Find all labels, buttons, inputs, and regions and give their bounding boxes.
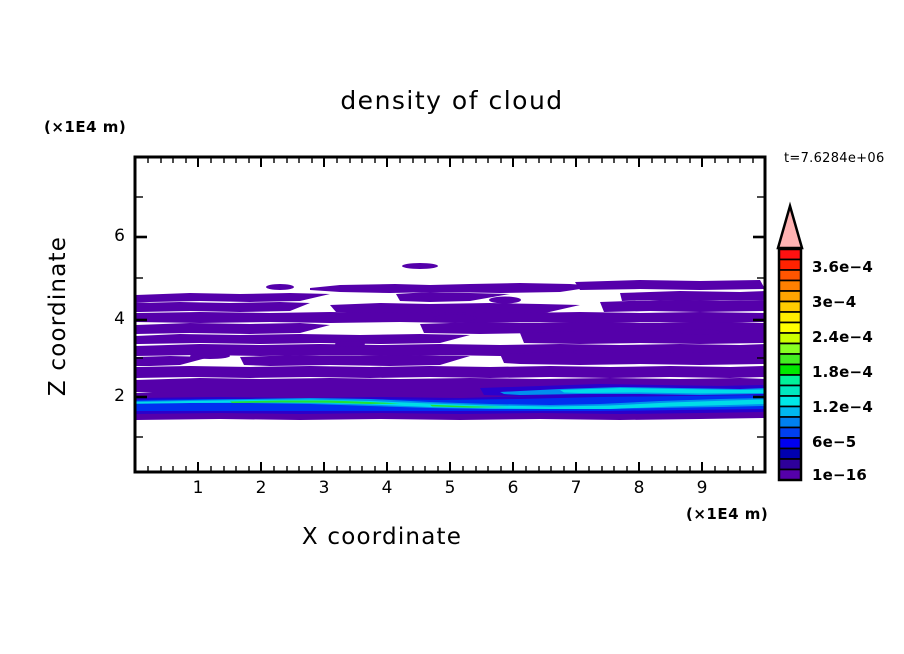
colorbar-tick-label: 1.8e−4	[812, 363, 873, 381]
colorbar-tick-label: 1.2e−4	[812, 398, 873, 416]
figure-canvas: density of cloud (×1E4 m) (×1E4 m) t=7.6…	[0, 0, 904, 654]
colorbar-bands	[779, 249, 801, 480]
colorbar	[0, 0, 904, 654]
colorbar-tick-label: 3.6e−4	[812, 258, 873, 276]
colorbar-arrow-tip	[778, 206, 802, 248]
colorbar-tick-label: 2.4e−4	[812, 328, 873, 346]
colorbar-tick-label: 6e−5	[812, 433, 856, 451]
colorbar-tick-label: 1e−16	[812, 466, 867, 484]
colorbar-tick-label: 3e−4	[812, 293, 856, 311]
